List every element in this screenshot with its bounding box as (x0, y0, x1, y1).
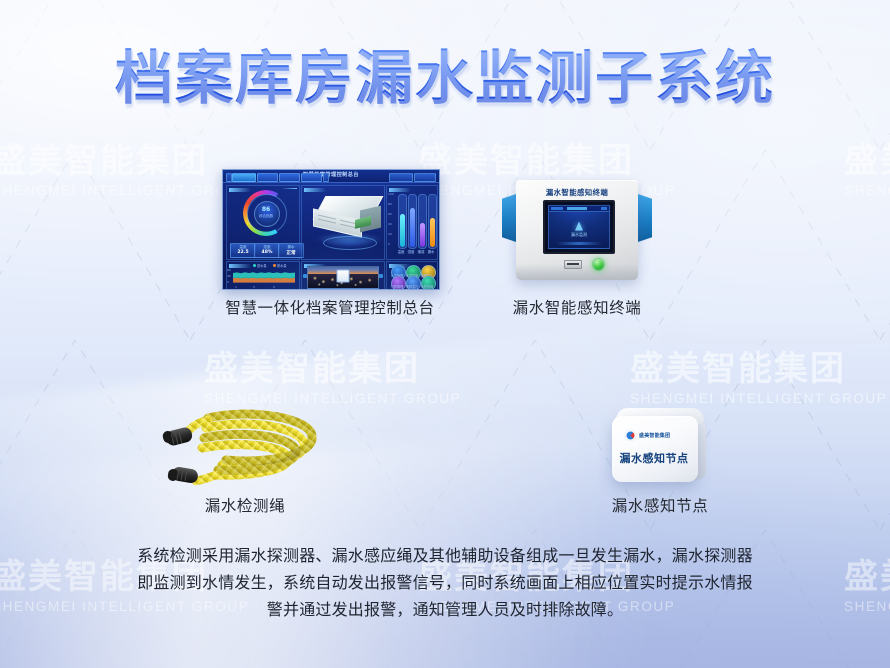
vbar-track-3 (428, 194, 437, 249)
vbar-track-0 (398, 194, 407, 249)
env-stat-0[interactable]: 温度 22.5 (230, 243, 256, 258)
area-legend-label-0: 进水量 (257, 263, 267, 268)
vbar-fill-1 (410, 208, 416, 247)
node-device-label: 漏水感知节点 (612, 450, 696, 466)
area-ytick-0: 80 (227, 268, 231, 272)
archive-room-3d-model (311, 188, 387, 250)
rope-connector-upper (162, 426, 194, 447)
panel-title-accent (281, 188, 297, 189)
terminal-screen-chip-mid (567, 207, 587, 210)
env-gauge-value: 86 (254, 206, 278, 213)
panel-title-bar (229, 264, 251, 268)
dashboard-tab-0[interactable] (232, 173, 256, 182)
vbar-ytick-2: 60 (388, 212, 392, 216)
vbar-ytick-5: 0 (388, 242, 390, 246)
vbar-ytick-1: 80 (388, 202, 392, 206)
vbar-ytick-4: 20 (388, 232, 392, 236)
leak-detection-rope (160, 402, 330, 488)
area-ytick-2: 40 (227, 274, 231, 278)
env-stat-2-value: 正常 (279, 250, 303, 256)
description-paragraph: 系统检测采用漏水探测器、漏水感应绳及其他辅助设备组成一旦发生漏水，漏水探测器 即… (95, 542, 795, 623)
photo-prev-arrow[interactable] (303, 274, 307, 278)
dashboard-tab-3[interactable] (301, 173, 322, 182)
terminal-screen-chip-right (601, 207, 607, 210)
terminal-device-label: 漏水智能感知终端 (516, 187, 638, 198)
terminal-screen-text: 漏水监测 (549, 232, 609, 238)
env-gauge-label: 综合指数 (254, 214, 278, 219)
dashboard-canvas: 智慧档案管理控制总台 86 综合指数 温度 22.5 (223, 170, 439, 289)
description-line-1: 即监测到水情发生，系统自动发出报警信号，同时系统画面上相应位置实时提示水情报 (95, 569, 795, 596)
water-drop-icon (575, 222, 583, 231)
env-stat-1-value: 48% (255, 250, 279, 255)
leak-sensing-node[interactable]: 盛美智能集团 漏水感知节点 (612, 408, 708, 484)
terminal-screen-footer (556, 242, 602, 245)
poster-stage: 盛美智能集团 SHENGMEI INTELLIGENT GROUP 盛美智能集团… (0, 0, 890, 668)
dashboard-tab-2[interactable] (279, 173, 300, 182)
terminal-screen[interactable]: 漏水监测 (543, 200, 615, 254)
vbar-fill-2 (420, 223, 426, 247)
caption-terminal: 漏水智能感知终端 (487, 296, 667, 318)
photo-building-icon (337, 270, 350, 283)
photo-next-arrow[interactable] (379, 274, 383, 278)
page-title: 档案库房漏水监测子系统 (0, 46, 890, 111)
caption-console: 智慧一体化档案管理控制总台 (180, 296, 480, 318)
area-xtick-4: 5 (253, 285, 255, 289)
panel-title-bar (389, 188, 411, 192)
console-dashboard-screen[interactable]: 智慧档案管理控制总台 86 综合指数 温度 22.5 (222, 169, 440, 290)
model-base-platter (323, 236, 377, 250)
vbar-fill-0 (400, 214, 406, 247)
panel-title-bar (229, 188, 251, 192)
terminal-left-wing (502, 194, 516, 242)
terminal-port (564, 260, 582, 269)
dashboard-user-badge[interactable] (414, 173, 436, 182)
area-xtick-8: 9 (273, 285, 275, 289)
surveillance-photo[interactable] (307, 266, 379, 289)
node-front-face: 盛美智能集团 漏水感知节点 (612, 416, 698, 482)
area-legend-dot-1 (273, 264, 276, 267)
icon-label-5: 系统设置 (416, 284, 438, 289)
node-logo-text: 盛美智能集团 (639, 432, 670, 439)
leak-sensing-terminal[interactable]: 漏水智能感知终端 漏水监测 (498, 180, 656, 288)
status-led-indicator (592, 258, 605, 271)
terminal-screen-ui: 漏水监测 (548, 205, 610, 249)
description-line-2: 警并通过发出报警，通知管理人员及时排除故障。 (95, 596, 795, 623)
company-logo-icon (625, 430, 636, 441)
area-ytick-4: 0 (227, 280, 229, 284)
dashboard-brand-badge (389, 173, 413, 182)
env-stat-1[interactable]: 湿度 48% (254, 243, 280, 258)
rope-connector-lower (167, 466, 199, 484)
vbar-track-1 (408, 194, 417, 249)
caption-rope: 漏水检测绳 (165, 494, 325, 516)
terminal-right-wing (638, 194, 652, 242)
terminal-screen-chip-left (551, 207, 563, 210)
vbar-fill-3 (430, 218, 436, 247)
caption-node: 漏水感知节点 (580, 494, 740, 516)
vbar-label-3: 漏水 (423, 249, 439, 254)
dashboard-more-icon[interactable] (323, 173, 329, 182)
vbar-ytick-0: 100 (388, 192, 394, 196)
area-chart (233, 269, 295, 284)
dashboard-tab-1[interactable] (257, 173, 278, 182)
env-stat-0-value: 22.5 (231, 250, 255, 255)
area-legend-label-1: 排水量 (277, 263, 287, 268)
description-line-0: 系统检测采用漏水探测器、漏水感应绳及其他辅助设备组成一旦发生漏水，漏水探测器 (95, 542, 795, 569)
vbar-track-2 (418, 194, 427, 249)
vbar-ytick-3: 40 (388, 222, 392, 226)
area-xtick-0: 1 (235, 285, 237, 289)
area-legend-dot-0 (253, 264, 256, 267)
